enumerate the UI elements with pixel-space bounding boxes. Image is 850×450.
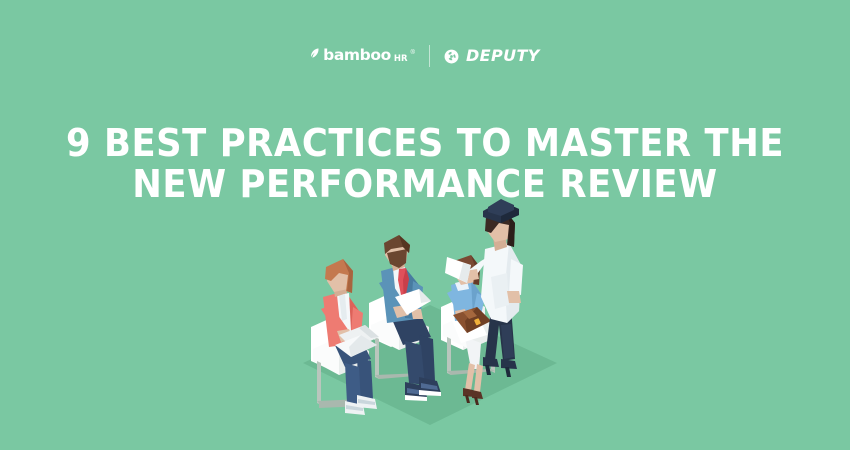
- deputy-badge-icon: [444, 49, 459, 64]
- bamboo-leaf-icon: [310, 48, 319, 59]
- blog-header-banner: bamboo HR ® DEPUTY 9 BEST PRACTICES TO M…: [0, 0, 850, 450]
- figure-seated-woman-coral-blazer: [321, 259, 379, 415]
- logo-divider: [429, 45, 430, 67]
- bamboohr-wordmark: bamboo: [323, 48, 391, 64]
- headline-line-1: 9 BEST PRACTICES TO MASTER THE: [30, 123, 821, 164]
- co-brand-logo-bar: bamboo HR ® DEPUTY: [0, 42, 850, 70]
- bamboohr-logo[interactable]: bamboo HR ®: [310, 48, 415, 65]
- bamboohr-trademark: ®: [411, 50, 415, 56]
- deputy-logo[interactable]: DEPUTY: [444, 48, 540, 64]
- deputy-wordmark: DEPUTY: [466, 48, 540, 64]
- isometric-team-meeting-illustration: [295, 185, 565, 430]
- bamboohr-suffix: HR: [394, 55, 408, 64]
